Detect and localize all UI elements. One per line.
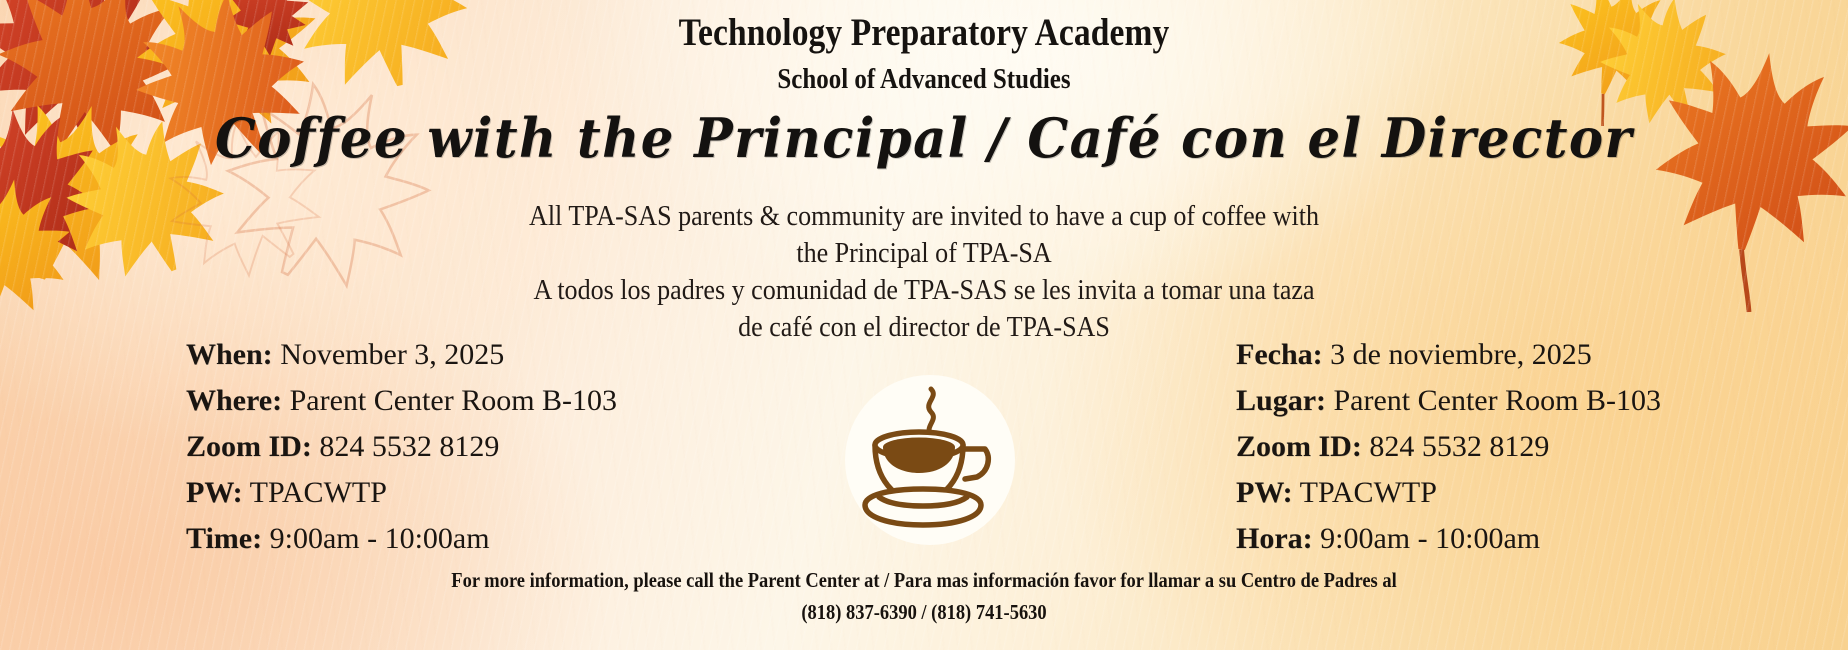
detail-label: Hora:	[1236, 522, 1313, 555]
invitation-es-line-1: A todos los padres y comunidad de TPA-SA…	[65, 272, 1784, 309]
details-spanish: Fecha: 3 de noviembre, 2025 Lugar: Paren…	[1236, 332, 1661, 562]
detail-row-hora: Hora: 9:00am - 10:00am	[1236, 516, 1661, 562]
detail-row-zoom-id-es: Zoom ID: 824 5532 8129	[1236, 424, 1661, 470]
invitation-paragraph: All TPA-SAS parents & community are invi…	[65, 198, 1784, 346]
detail-value: Parent Center Room B-103	[1334, 384, 1661, 417]
detail-label: Time:	[186, 522, 262, 555]
footer-contact: For more information, please call the Pa…	[111, 564, 1737, 628]
detail-value: 824 5532 8129	[319, 430, 499, 463]
detail-label: When:	[186, 338, 273, 371]
details-english: When: November 3, 2025 Where: Parent Cen…	[186, 332, 617, 562]
detail-row-password: PW: TPACWTP	[186, 470, 617, 516]
detail-row-where: Where: Parent Center Room B-103	[186, 378, 617, 424]
invitation-en-line-2: the Principal of TPA-SA	[65, 235, 1784, 272]
school-name: Technology Preparatory Academy	[129, 10, 1718, 55]
invitation-en-line-1: All TPA-SAS parents & community are invi…	[65, 198, 1784, 235]
detail-value: Parent Center Room B-103	[290, 384, 617, 417]
detail-value: 9:00am - 10:00am	[270, 522, 490, 555]
detail-row-zoom-id: Zoom ID: 824 5532 8129	[186, 424, 617, 470]
detail-label: Zoom ID:	[1236, 430, 1362, 463]
coffee-cup-icon	[845, 375, 1015, 545]
detail-row-time: Time: 9:00am - 10:00am	[186, 516, 617, 562]
detail-row-fecha: Fecha: 3 de noviembre, 2025	[1236, 332, 1661, 378]
detail-value: TPACWTP	[250, 476, 387, 509]
flyer-canvas: Technology Preparatory Academy School of…	[0, 0, 1848, 650]
detail-value: 3 de noviembre, 2025	[1330, 338, 1592, 371]
detail-label: Where:	[186, 384, 282, 417]
detail-label: Fecha:	[1236, 338, 1323, 371]
detail-value: 824 5532 8129	[1369, 430, 1549, 463]
detail-row-lugar: Lugar: Parent Center Room B-103	[1236, 378, 1661, 424]
detail-label: Zoom ID:	[186, 430, 312, 463]
footer-line-1: For more information, please call the Pa…	[111, 564, 1737, 596]
detail-row-when: When: November 3, 2025	[186, 332, 617, 378]
detail-value: November 3, 2025	[280, 338, 504, 371]
detail-label: PW:	[1236, 476, 1293, 509]
detail-label: Lugar:	[1236, 384, 1326, 417]
school-subtitle: School of Advanced Studies	[129, 63, 1718, 96]
detail-value: 9:00am - 10:00am	[1320, 522, 1540, 555]
footer-line-2: (818) 837-6390 / (818) 741-5630	[111, 596, 1737, 628]
detail-label: PW:	[186, 476, 243, 509]
detail-value: TPACWTP	[1300, 476, 1437, 509]
event-title: Coffee with the Principal / Café con el …	[46, 106, 1802, 170]
detail-row-password-es: PW: TPACWTP	[1236, 470, 1661, 516]
